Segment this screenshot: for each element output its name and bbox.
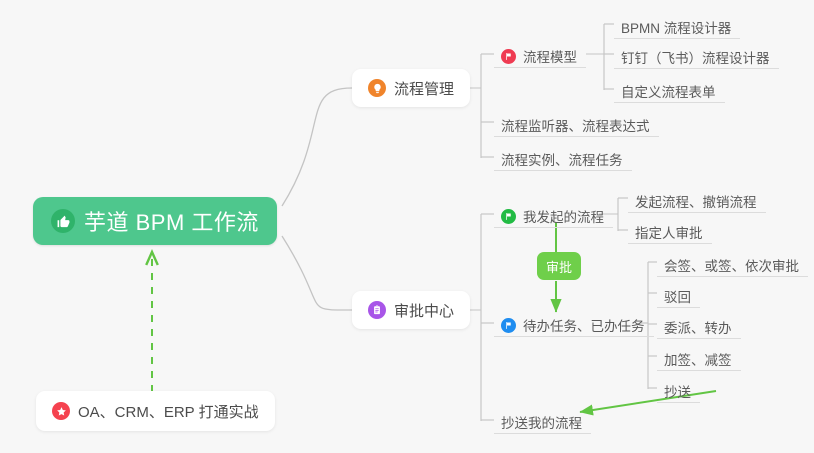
node-todo-done-tasks[interactable]: 待办任务、已办任务 <box>494 307 654 337</box>
mindmap-canvas: 芋道 BPM 工作流 流程管理 流程模型 流程监听器、流程表达式 流程实例、流程… <box>0 0 814 453</box>
footnote-label: OA、CRM、ERP 打通实战 <box>78 401 259 422</box>
node-start-cancel-process[interactable]: 发起流程、撤销流程 <box>628 183 766 213</box>
node-dingtalk-feishu-designer[interactable]: 钉钉（飞书）流程设计器 <box>614 39 779 69</box>
node-process-listener-expression[interactable]: 流程监听器、流程表达式 <box>494 107 659 137</box>
node-reject[interactable]: 驳回 <box>657 278 700 308</box>
root-label: 芋道 BPM 工作流 <box>84 205 259 237</box>
node-label: 委派、转办 <box>664 322 732 336</box>
thumbs-up-icon <box>51 209 75 233</box>
star-icon <box>52 402 70 420</box>
approval-tag[interactable]: 审批 <box>537 252 581 280</box>
lightbulb-icon <box>368 79 386 97</box>
branch-approval-center[interactable]: 审批中心 <box>352 291 470 329</box>
node-designated-approver[interactable]: 指定人审批 <box>628 214 712 244</box>
node-label: 钉钉（飞书）流程设计器 <box>621 52 770 66</box>
node-process-model[interactable]: 流程模型 <box>494 38 586 68</box>
node-label: 会签、或签、依次审批 <box>664 260 799 274</box>
node-label: 发起流程、撤销流程 <box>635 196 757 210</box>
node-label: 抄送我的流程 <box>501 417 582 431</box>
node-label: 抄送 <box>664 386 691 400</box>
node-label: 流程模型 <box>523 51 577 65</box>
node-add-remove-sign[interactable]: 加签、减签 <box>657 341 741 371</box>
node-carbon-copy[interactable]: 抄送 <box>657 373 700 403</box>
node-label: 待办任务、已办任务 <box>523 320 645 334</box>
clipboard-icon <box>368 301 386 319</box>
node-label: BPMN 流程设计器 <box>621 22 731 36</box>
node-countersign-or-sign-sequential[interactable]: 会签、或签、依次审批 <box>657 247 808 277</box>
flag-blue-icon <box>501 318 516 333</box>
node-bpmn-designer[interactable]: BPMN 流程设计器 <box>614 9 740 39</box>
branch-label: 审批中心 <box>394 300 454 321</box>
branch-label: 流程管理 <box>394 78 454 99</box>
node-custom-process-form[interactable]: 自定义流程表单 <box>614 73 725 103</box>
node-label: 指定人审批 <box>635 227 703 241</box>
approval-tag-label: 审批 <box>546 257 572 276</box>
node-cc-to-me-processes[interactable]: 抄送我的流程 <box>494 404 591 434</box>
root-node[interactable]: 芋道 BPM 工作流 <box>33 197 277 245</box>
node-label: 自定义流程表单 <box>621 86 716 100</box>
node-label: 我发起的流程 <box>523 211 604 225</box>
node-label: 加签、减签 <box>664 354 732 368</box>
node-label: 驳回 <box>664 291 691 305</box>
branch-process-management[interactable]: 流程管理 <box>352 69 470 107</box>
footnote-integration-note[interactable]: OA、CRM、ERP 打通实战 <box>36 391 275 431</box>
node-my-started-processes[interactable]: 我发起的流程 <box>494 198 613 228</box>
node-process-instance-task[interactable]: 流程实例、流程任务 <box>494 141 632 171</box>
node-delegate-transfer[interactable]: 委派、转办 <box>657 309 741 339</box>
node-label: 流程监听器、流程表达式 <box>501 120 650 134</box>
flag-red-icon <box>501 49 516 64</box>
node-label: 流程实例、流程任务 <box>501 154 623 168</box>
flag-green-icon <box>501 209 516 224</box>
